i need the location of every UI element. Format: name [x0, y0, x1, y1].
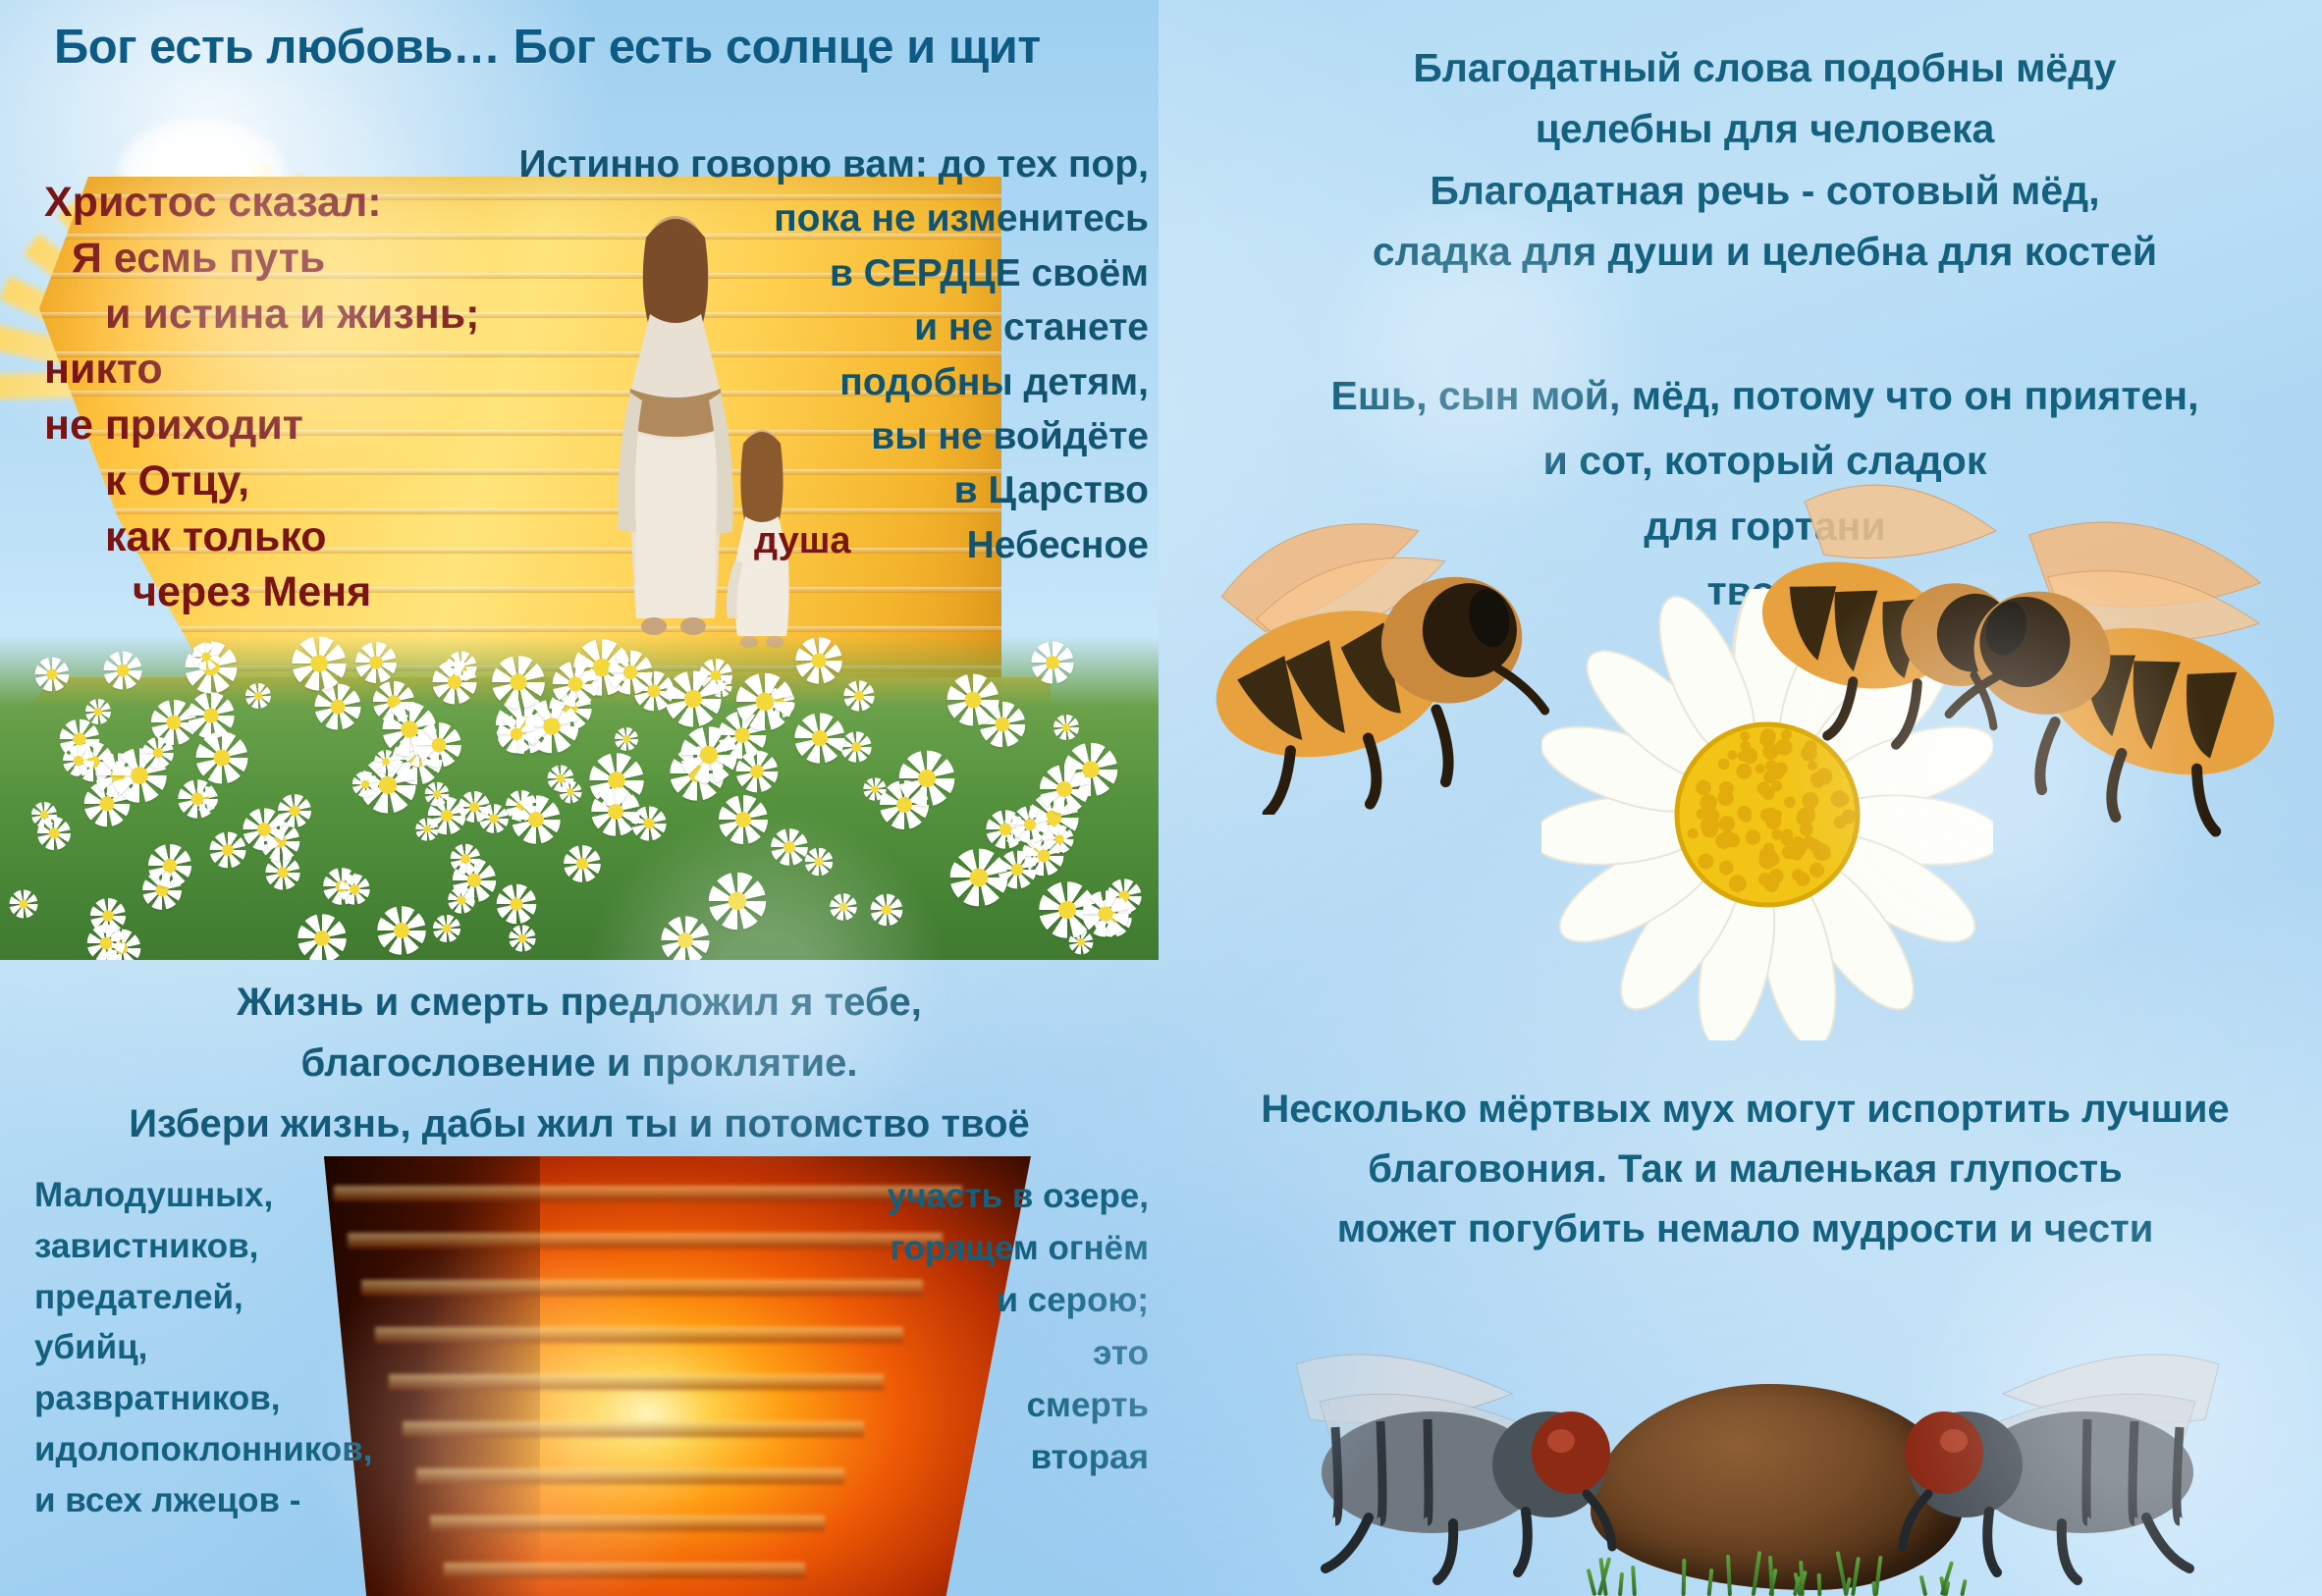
honey-quote-1-line-3: Благодатная речь - сотовый мёд,	[1208, 160, 2322, 221]
gold-quote-line-8: через Меня	[44, 564, 594, 620]
fate-line-5: смерть	[785, 1379, 1149, 1431]
daisy-flower	[493, 656, 546, 709]
burning-step	[416, 1468, 844, 1484]
daisy-flower	[771, 828, 808, 866]
life-death-block: Жизнь и смерть предложил я тебе, благосл…	[0, 972, 1159, 1154]
daisy-flower	[496, 883, 536, 924]
honey-quote-1: Благодатный слова подобны мёду целебны д…	[1208, 37, 2322, 282]
poster-canvas: Бог есть любовь… Бог есть солнце и щит Х…	[0, 0, 2322, 1596]
sinners-line-2: завистников,	[34, 1221, 358, 1272]
daisy-flower	[796, 637, 842, 683]
daisy-flower	[243, 808, 285, 850]
daisy-flower	[564, 845, 601, 882]
daisy-flower	[665, 670, 721, 726]
daisy-flower	[794, 713, 844, 763]
daisy-flower	[1046, 825, 1074, 853]
panel-flies	[1267, 1266, 2248, 1596]
daisy-flower	[946, 673, 999, 725]
honey-quote-1-line-4: сладка для души и целебна для костей	[1208, 221, 2322, 282]
daisy-flower	[352, 771, 378, 797]
daisy-flower	[378, 906, 427, 955]
daisy-flower	[1040, 765, 1089, 814]
honeybee-left	[1193, 442, 1635, 815]
sinners-line-6: идолопоклонников,	[34, 1424, 358, 1475]
sinners-line-4: убийц,	[34, 1322, 358, 1373]
fate-line-6: вторая	[785, 1431, 1149, 1483]
daisy-flower	[840, 731, 872, 763]
daisy-flower	[63, 745, 94, 776]
daisy-flower	[355, 642, 397, 683]
daisy-flower	[1011, 806, 1049, 843]
soul-label: душа	[754, 520, 851, 562]
daisy-flower	[1082, 891, 1128, 937]
daisy-flower	[615, 727, 638, 751]
daisy-flower	[196, 732, 248, 784]
daisy-flower	[1053, 715, 1079, 740]
burning-step	[430, 1516, 825, 1531]
blue-quote-line-3: в СЕРДЦЕ своём	[461, 246, 1149, 300]
page-title: Бог есть любовь… Бог есть солнце и щит	[54, 20, 1041, 75]
blue-quote-block: Истинно говорю вам: до тех пор, пока не …	[461, 137, 1149, 572]
daisy-flower	[844, 680, 876, 712]
fate-block: участь в озере, горящем огнём и серою; э…	[785, 1170, 1149, 1483]
fate-line-4: это	[785, 1327, 1149, 1379]
life-death-line-3: Избери жизнь, дабы жил ты и потомство тв…	[0, 1093, 1159, 1154]
daisy-flower	[709, 873, 766, 930]
daisy-flower	[297, 914, 347, 960]
daisy-flower	[560, 780, 582, 803]
daisy-flower	[450, 843, 480, 874]
housefly-right	[1836, 1325, 2248, 1596]
blue-quote-line-1: Истинно говорю вам: до тех пор,	[461, 137, 1149, 191]
flies-quote-line-1: Несколько мёртвых мух могут испортить лу…	[1168, 1080, 2322, 1140]
sinners-line-1: Малодушных,	[34, 1170, 358, 1221]
daisy-flower	[10, 890, 38, 919]
burning-step	[444, 1563, 805, 1578]
daisy-flower	[949, 849, 1007, 907]
daisy-flower	[142, 737, 174, 769]
sinners-line-5: развратников,	[34, 1373, 358, 1424]
daisy-meadow	[0, 636, 1159, 960]
sinners-line-3: предателей,	[34, 1272, 358, 1323]
honey-quote-1-line-2: целебны для человека	[1208, 98, 2322, 159]
panel-bees	[1193, 412, 2322, 1080]
stair-step	[20, 626, 1001, 632]
daisy-flower	[609, 650, 653, 694]
fate-line-1: участь в озере,	[785, 1170, 1149, 1222]
daisy-flower	[509, 925, 535, 951]
housefly-left	[1267, 1325, 1679, 1596]
fate-line-2: горящем огнём	[785, 1222, 1149, 1274]
daisy-flower	[148, 844, 191, 887]
blue-quote-line-5: подобны детям,	[461, 355, 1149, 409]
daisy-flower	[86, 924, 125, 960]
daisy-flower	[340, 874, 371, 905]
daisy-flower	[103, 652, 141, 690]
daisy-flower	[85, 699, 111, 724]
daisy-flower	[736, 751, 779, 793]
daisy-flower	[37, 817, 71, 850]
daisy-flower	[680, 726, 737, 783]
daisy-flower	[245, 683, 271, 709]
flies-quote-line-3: может погубить немало мудрости и чести	[1168, 1199, 2322, 1259]
daisy-flower	[719, 795, 768, 844]
daisy-flower	[432, 661, 476, 705]
daisy-flower	[661, 917, 709, 960]
life-death-line-1: Жизнь и смерть предложил я тебе,	[0, 972, 1159, 1033]
blue-quote-line-6: вы не войдёте	[461, 409, 1149, 463]
daisy-flower	[314, 684, 360, 730]
daisy-flower	[34, 658, 69, 692]
grass-blade	[1681, 1559, 1686, 1596]
blue-quote-line-4: и не станете	[461, 300, 1149, 354]
daisy-flower	[735, 673, 792, 730]
daisy-flower	[433, 915, 460, 942]
honeybee-right	[1880, 452, 2322, 864]
daisy-flower	[448, 886, 475, 914]
daisy-flower	[416, 722, 461, 768]
blue-quote-line-7: в Царство	[461, 463, 1149, 517]
blue-quote-line-2: пока не изменитесь	[461, 191, 1149, 245]
fate-line-3: и серою;	[785, 1274, 1149, 1326]
daisy-flower	[870, 893, 902, 926]
honey-quote-1-line-1: Благодатный слова подобны мёду	[1208, 37, 2322, 98]
daisy-flower	[805, 848, 834, 877]
daisy-flower	[830, 893, 857, 921]
daisy-flower	[899, 750, 955, 806]
sinners-line-7: и всех лжецов -	[34, 1475, 358, 1526]
daisy-flower	[1031, 641, 1073, 683]
sinners-list-block: Малодушных, завистников, предателей, уби…	[34, 1170, 358, 1526]
flies-quote-line-2: благовония. Так и маленькая глупость	[1168, 1140, 2322, 1199]
flies-quote-block: Несколько мёртвых мух могут испортить лу…	[1168, 1080, 2322, 1258]
daisy-flower	[553, 662, 599, 708]
daisy-flower	[210, 832, 246, 869]
daisy-flower	[178, 779, 216, 818]
daisy-flower	[512, 795, 561, 844]
life-death-line-2: благословение и проклятие.	[0, 1033, 1159, 1093]
